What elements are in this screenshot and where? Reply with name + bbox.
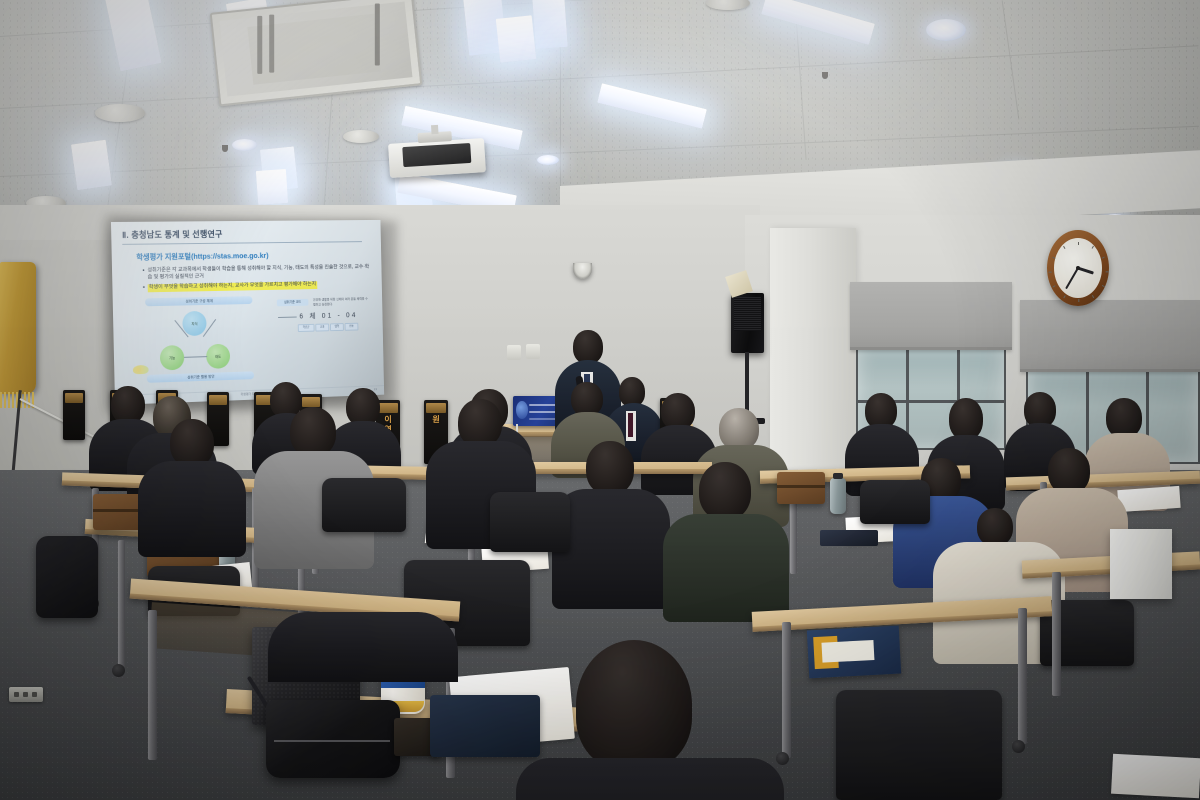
ceiling-downlight: [537, 155, 559, 165]
attendee-head: [949, 398, 983, 440]
diagram-top-bar: 성취기준 구성 체계: [145, 296, 252, 306]
attendee-head: [586, 441, 634, 495]
ceiling-led-panel-light: [256, 169, 288, 205]
ceiling-downlight: [232, 139, 257, 151]
code-chip-number: 번호: [345, 323, 359, 331]
ceiling-projector: [388, 138, 486, 178]
attendee-torso: [138, 461, 246, 557]
ceiling-led-panel-light: [71, 140, 112, 190]
diagram-bottom-bar: 성취기준 활용 방안: [147, 371, 254, 383]
attendee-torso: [663, 514, 789, 622]
attendee-torso: [516, 758, 784, 800]
office-chair[interactable]: [322, 478, 406, 532]
window-roller-blind[interactable]: [1020, 300, 1200, 372]
desk-leg: [782, 622, 791, 758]
projector-stem: [431, 125, 439, 134]
office-chair[interactable]: [860, 480, 930, 524]
desk-caster: [112, 664, 125, 677]
white-box: [1110, 529, 1172, 599]
desk-caster: [776, 752, 789, 765]
code-chip-label: 성취기준 코드: [277, 299, 309, 306]
office-chair[interactable]: [490, 492, 570, 552]
clock-minute-hand: [1065, 268, 1079, 290]
clock-center-pin: [1076, 266, 1080, 270]
diagram-arrow: [184, 356, 207, 357]
ceiling-led-panel-light: [496, 15, 536, 63]
clock-face: [1054, 238, 1102, 298]
code-note: 건강한 생활을 위한 신체의 여러 운동 체력을 수행하고 실천한다.: [313, 297, 370, 307]
ceiling-led-panel-light: [532, 0, 568, 49]
wall-power-outlet[interactable]: [507, 345, 521, 360]
paper-document: [1117, 486, 1180, 512]
slide-bullet: • 성취기준은 각 교과목에서 학생들이 학습을 통해 성취해야 할 지식, 기…: [142, 264, 372, 281]
diagram-node-knowledge: 지식: [182, 311, 207, 336]
presenter-head: [573, 330, 603, 364]
attendee-head: [977, 508, 1013, 546]
desk-leg: [1052, 572, 1061, 696]
attendee-head: [719, 408, 759, 450]
projector-lens-housing: [402, 143, 471, 167]
slide-bullet: • 학생이 무엇을 학습하고 성취해야 하는지, 교사가 무엇을 가르치고 평가…: [143, 280, 373, 292]
office-chair[interactable]: [836, 690, 1002, 800]
attendee-head: [170, 419, 214, 467]
attendee-head: [571, 382, 603, 416]
desk-leg: [1018, 608, 1027, 744]
attendee-head: [458, 399, 502, 447]
tablet-device[interactable]: [820, 530, 878, 546]
code-chip-domain: 영역: [330, 323, 344, 331]
attendee-head: [699, 462, 751, 520]
slide-bullet-list: • 성취기준은 각 교과목에서 학생들이 학습을 통해 성취해야 할 지식, 기…: [142, 264, 372, 292]
pa-speaker: [731, 293, 764, 353]
nameplate: [63, 390, 85, 440]
leather-pouch: [266, 700, 400, 778]
slide-logo: [133, 365, 149, 374]
ceiling-downlight: [926, 19, 966, 41]
code-chip-subject: 교과: [315, 323, 329, 331]
code-example-text: 6 체 01 - 04: [299, 310, 357, 321]
bullet-marker: •: [143, 284, 145, 292]
sprinkler-head: [222, 145, 228, 152]
seminar-room-photo: Ⅱ. 충청남도 통계 및 선행연구 학생평가 지원포털(https://stas…: [0, 0, 1200, 800]
attendee-necktie: [628, 413, 633, 437]
laptop-bag: [430, 695, 540, 757]
ceremonial-flag: [0, 262, 36, 394]
bullet-text: 성취기준은 각 교과목에서 학생들이 학습을 통해 성취해야 할 지식, 기능,…: [147, 264, 372, 281]
diagram-node-attitude: 태도: [206, 344, 230, 369]
attendee-head: [1106, 398, 1142, 438]
code-arrow: [278, 317, 297, 318]
bullet-text-highlighted: 학생이 무엇을 학습하고 성취해야 하는지, 교사가 무엇을 가르치고 평가해야…: [148, 281, 317, 292]
desk-leg: [118, 540, 125, 668]
slide-subtitle: 학생평가 지원포털(https://stas.moe.go.kr): [136, 249, 372, 263]
slide-title: Ⅱ. 충청남도 통계 및 선행연구: [122, 227, 372, 241]
banner-emblem: [516, 401, 528, 419]
code-chip-grade: 학년군: [298, 324, 315, 332]
floor-power-outlet[interactable]: [9, 687, 43, 702]
sprinkler-head: [822, 72, 828, 79]
projection-screen: Ⅱ. 충청남도 통계 및 선행연구 학생평가 지원포털(https://stas…: [111, 220, 384, 405]
attendee-head: [290, 407, 336, 457]
smoke-detector: [343, 130, 379, 143]
diagram-node-skill: 기능: [160, 345, 185, 370]
brown-briefcase: [777, 472, 825, 504]
clock-hour-hand: [1078, 267, 1094, 274]
attendee-head: [576, 640, 692, 770]
desk-leg: [148, 610, 157, 760]
wall-pillar: [770, 228, 856, 490]
desk-caster: [1012, 740, 1025, 753]
wall-clock: [1047, 230, 1109, 306]
window-roller-blind[interactable]: [850, 282, 1012, 350]
navy-booklet: [807, 626, 901, 679]
attendee-torso: [268, 612, 458, 682]
paper-document: [1111, 754, 1200, 799]
nameplate-text: 원: [431, 415, 442, 425]
slide-title-rule: [122, 241, 362, 245]
bullet-marker: •: [142, 268, 144, 282]
slide-body: 성취기준 구성 체계 지식 기능 태도 성취기준 활용 방안 성취기준 코드 건…: [123, 292, 374, 385]
backpack: [36, 536, 98, 618]
wall-power-outlet[interactable]: [526, 344, 540, 359]
water-bottle: [830, 478, 846, 514]
presentation-slide: Ⅱ. 충청남도 통계 및 선행연구 학생평가 지원포털(https://stas…: [111, 220, 384, 405]
smoke-detector: [95, 104, 145, 122]
